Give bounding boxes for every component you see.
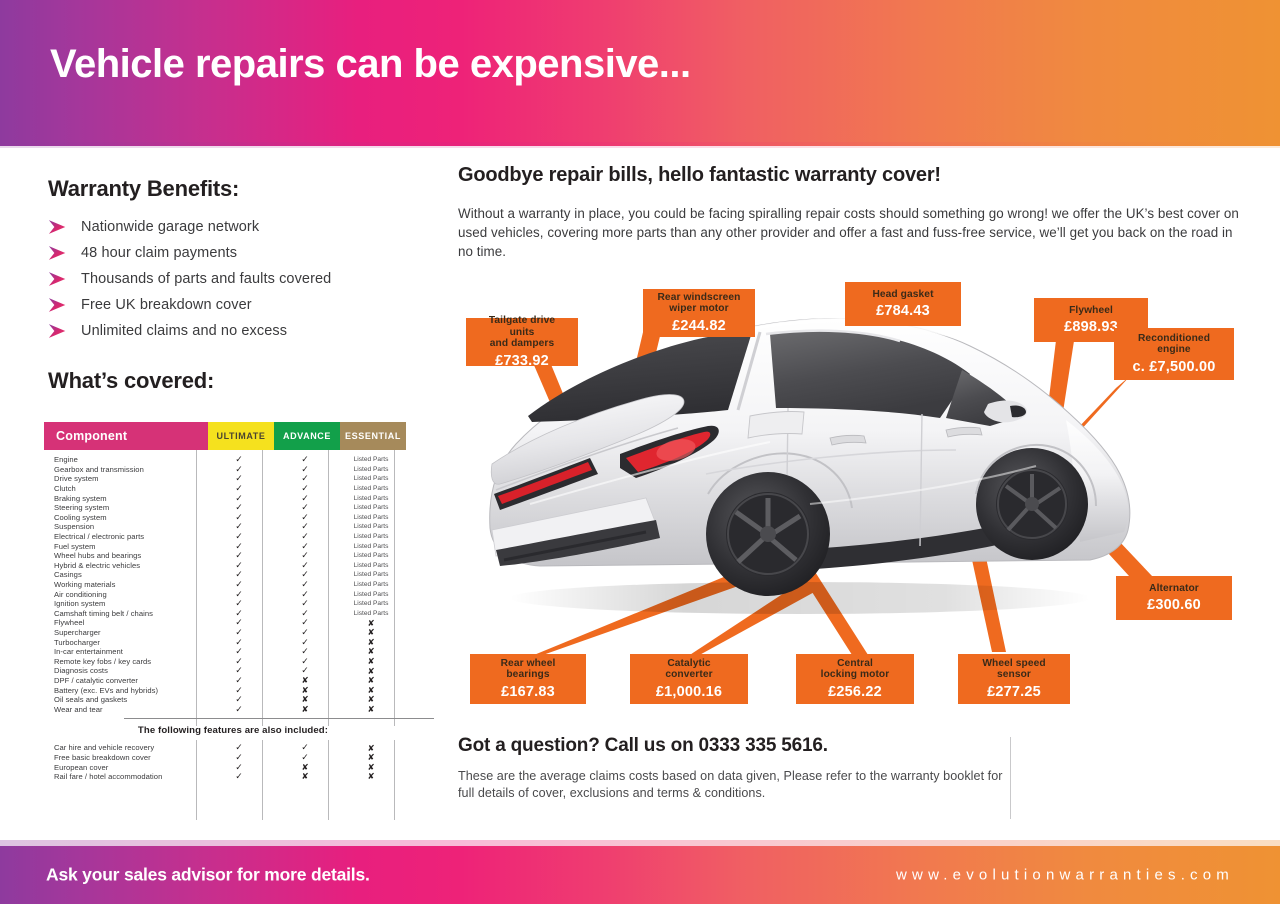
callout-central-lock[interactable]: Centrallocking motor£256.22 — [796, 654, 914, 704]
column-header-ultimate: ULTIMATE — [208, 422, 274, 450]
component-name: Camshaft timing belt / chains — [44, 609, 206, 618]
table-row: Steering system✓✓Listed Parts — [44, 503, 394, 513]
table-row: Car hire and vehicle recovery✓✓✘ — [44, 743, 394, 753]
column-header-advance: ADVANCE — [274, 422, 340, 450]
component-name: Supercharger — [44, 628, 206, 637]
header-banner: Vehicle repairs can be expensive... — [0, 0, 1280, 146]
callout-price: £300.60 — [1147, 597, 1201, 613]
callout-price: £733.92 — [495, 353, 549, 369]
extras-divider-3 — [328, 740, 329, 820]
benefit-item: Nationwide garage network — [48, 214, 259, 240]
component-name: Suspension — [44, 522, 206, 531]
benefit-item: Thousands of parts and faults covered — [48, 266, 331, 292]
table-row: Air conditioning✓✓Listed Parts — [44, 589, 394, 599]
component-name: Working materials — [44, 580, 206, 589]
chevron-right-icon — [48, 271, 68, 287]
table-row: Battery (exc. EVs and hybrids)✓✘✘ — [44, 685, 394, 695]
footer-banner: Ask your sales advisor for more details.… — [0, 846, 1280, 904]
component-name: Braking system — [44, 494, 206, 503]
component-name: Diagnosis costs — [44, 666, 206, 675]
table-row: Oil seals and gaskets✓✘✘ — [44, 695, 394, 705]
component-name: Wear and tear — [44, 705, 206, 714]
callout-wiper[interactable]: Rear windscreenwiper motor£244.82 — [643, 289, 755, 337]
question-block: Got a question? Call us on 0333 335 5616… — [458, 735, 1018, 802]
component-name: Ignition system — [44, 599, 206, 608]
chevron-right-icon — [48, 219, 68, 235]
table-row: Diagnosis costs✓✓✘ — [44, 666, 394, 676]
callout-label: Head gasket — [872, 289, 933, 300]
callout-price: £898.93 — [1064, 319, 1118, 335]
component-name: Steering system — [44, 503, 206, 512]
callout-price: £277.25 — [987, 684, 1041, 700]
callout-label: Tailgate drive unitsand dampers — [476, 315, 568, 349]
column-header-component: Component — [44, 422, 208, 450]
question-subtext: These are the average claims costs based… — [458, 768, 1018, 802]
table-row: Drive system✓✓Listed Parts — [44, 474, 394, 484]
right-heading: Goodbye repair bills, hello fantastic wa… — [458, 164, 941, 187]
callout-label: Flywheel — [1069, 305, 1113, 316]
component-name: Flywheel — [44, 618, 206, 627]
table-row: Cooling system✓✓Listed Parts — [44, 513, 394, 523]
table-row: Free basic breakdown cover✓✓✘ — [44, 753, 394, 763]
footer-cta-text: Ask your sales advisor for more details. — [46, 865, 370, 886]
benefit-label: Free UK breakdown cover — [81, 297, 252, 313]
benefit-item: Unlimited claims and no excess — [48, 318, 287, 344]
left-column: Warranty Benefits: Nationwide garage net… — [0, 146, 440, 836]
table-row: Remote key fobs / key cards✓✓✘ — [44, 656, 394, 666]
callout-label: Wheel speedsensor — [982, 658, 1045, 681]
table-body: Engine✓✓Listed PartsGearbox and transmis… — [44, 450, 394, 714]
callout-price: £1,000.16 — [656, 684, 722, 700]
callout-label: Centrallocking motor — [821, 658, 890, 681]
rear-wheel — [706, 472, 830, 596]
component-name: Battery (exc. EVs and hybrids) — [44, 686, 206, 695]
table-row: Braking system✓✓Listed Parts — [44, 493, 394, 503]
component-name: Oil seals and gaskets — [44, 695, 206, 704]
chevron-right-icon — [48, 245, 68, 261]
callout-price: £256.22 — [828, 684, 882, 700]
right-column: Goodbye repair bills, hello fantastic wa… — [440, 146, 1280, 836]
table-row: DPF / catalytic converter✓✘✘ — [44, 676, 394, 686]
table-row: Turbocharger✓✓✘ — [44, 637, 394, 647]
benefit-label: Nationwide garage network — [81, 219, 259, 235]
component-name: Car hire and vehicle recovery — [44, 743, 206, 752]
callout-price: £784.43 — [876, 303, 930, 319]
table-row: Camshaft timing belt / chains✓✓Listed Pa… — [44, 609, 394, 619]
benefit-label: Thousands of parts and faults covered — [81, 271, 331, 287]
callout-price: c. £7,500.00 — [1132, 359, 1215, 375]
callout-catalytic[interactable]: Catalyticconverter£1,000.16 — [630, 654, 748, 704]
table-row: Gearbox and transmission✓✓Listed Parts — [44, 465, 394, 475]
callout-recon-engine[interactable]: Reconditionedenginec. £7,500.00 — [1114, 328, 1234, 380]
table-row: Working materials✓✓Listed Parts — [44, 580, 394, 590]
benefit-item: Free UK breakdown cover — [48, 292, 252, 318]
callout-label: Alternator — [1149, 583, 1199, 594]
front-wheel — [976, 448, 1088, 560]
component-name: Wheel hubs and bearings — [44, 551, 206, 560]
component-name: Gearbox and transmission — [44, 465, 206, 474]
table-row: Hybrid & electric vehicles✓✓Listed Parts — [44, 561, 394, 571]
benefit-label: 48 hour claim payments — [81, 245, 237, 261]
extras-header: The following features are also included… — [44, 718, 394, 740]
page-title: Vehicle repairs can be expensive... — [50, 42, 691, 87]
component-name: Clutch — [44, 484, 206, 493]
table-divider-4 — [394, 450, 395, 726]
table-divider-3 — [328, 450, 329, 726]
extras-divider-2 — [262, 740, 263, 820]
callout-label: Reconditionedengine — [1138, 333, 1210, 356]
callout-label: Rear wheelbearings — [501, 658, 556, 681]
extras-rule — [124, 718, 434, 719]
component-name: European cover — [44, 763, 206, 772]
callout-wheel-speed[interactable]: Wheel speedsensor£277.25 — [958, 654, 1070, 704]
table-row: Flywheel✓✓✘ — [44, 618, 394, 628]
component-name: Air conditioning — [44, 590, 206, 599]
whats-covered-title: What’s covered: — [48, 368, 214, 394]
component-name: Hybrid & electric vehicles — [44, 561, 206, 570]
component-name: Fuel system — [44, 542, 206, 551]
warranty-benefits-title: Warranty Benefits: — [48, 176, 239, 202]
table-row: Engine✓✓Listed Parts — [44, 455, 394, 465]
extras-body: Car hire and vehicle recovery✓✓✘Free bas… — [44, 740, 394, 781]
table-row: Supercharger✓✓✘ — [44, 628, 394, 638]
extras-title: The following features are also included… — [44, 718, 394, 736]
chevron-right-icon — [48, 297, 68, 313]
callout-rear-wheel[interactable]: Rear wheelbearings£167.83 — [470, 654, 586, 704]
component-name: Casings — [44, 570, 206, 579]
question-divider — [1010, 737, 1011, 819]
table-row: Casings✓✓Listed Parts — [44, 570, 394, 580]
component-name: Cooling system — [44, 513, 206, 522]
benefit-item: 48 hour claim payments — [48, 240, 237, 266]
component-name: Drive system — [44, 474, 206, 483]
table-row: Rail fare / hotel accommodation✓✘✘ — [44, 772, 394, 782]
table-row: Wear and tear✓✘✘ — [44, 704, 394, 714]
callout-price: £244.82 — [672, 318, 726, 334]
callout-alternator[interactable]: Alternator£300.60 — [1116, 576, 1232, 620]
component-name: DPF / catalytic converter — [44, 676, 206, 685]
component-name: Rail fare / hotel accommodation — [44, 772, 206, 781]
table-row: Wheel hubs and bearings✓✓Listed Parts — [44, 551, 394, 561]
component-name: Turbocharger — [44, 638, 206, 647]
right-paragraph: Without a warranty in place, you could b… — [458, 204, 1244, 261]
table-row: Ignition system✓✓Listed Parts — [44, 599, 394, 609]
callout-head-gasket[interactable]: Head gasket£784.43 — [845, 282, 961, 326]
component-name: Engine — [44, 455, 206, 464]
table-header-row: Component ULTIMATE ADVANCE ESSENTIAL — [44, 422, 394, 450]
extras-divider-4 — [394, 740, 395, 820]
table-row: Electrical / electronic parts✓✓Listed Pa… — [44, 532, 394, 542]
component-name: Free basic breakdown cover — [44, 753, 206, 762]
question-title: Got a question? Call us on 0333 335 5616… — [458, 735, 1018, 757]
table-divider-2 — [262, 450, 263, 726]
table-row: European cover✓✘✘ — [44, 762, 394, 772]
poster-page: Vehicle repairs can be expensive... Warr… — [0, 0, 1280, 904]
component-name: In-car entertainment — [44, 647, 206, 656]
car-diagram: Tailgate drive unitsand dampers£733.92 R… — [440, 276, 1280, 736]
callout-label: Catalyticconverter — [665, 658, 712, 681]
table-row: In-car entertainment✓✓✘ — [44, 647, 394, 657]
component-name: Remote key fobs / key cards — [44, 657, 206, 666]
component-name: Electrical / electronic parts — [44, 532, 206, 541]
callout-tailgate[interactable]: Tailgate drive unitsand dampers£733.92 — [466, 318, 578, 366]
callout-label: Rear windscreenwiper motor — [657, 292, 740, 315]
table-row: Clutch✓✓Listed Parts — [44, 484, 394, 494]
table-row: Suspension✓✓Listed Parts — [44, 522, 394, 532]
callout-price: £167.83 — [501, 684, 555, 700]
chevron-right-icon — [48, 323, 68, 339]
table-divider-1 — [196, 450, 197, 726]
benefit-label: Unlimited claims and no excess — [81, 323, 287, 339]
coverage-table: Component ULTIMATE ADVANCE ESSENTIAL Eng… — [44, 422, 394, 781]
table-row: Fuel system✓✓Listed Parts — [44, 541, 394, 551]
extras-divider-1 — [196, 740, 197, 820]
footer-website-url[interactable]: www.evolutionwarranties.com — [896, 867, 1234, 884]
column-header-essential: ESSENTIAL — [340, 422, 406, 450]
